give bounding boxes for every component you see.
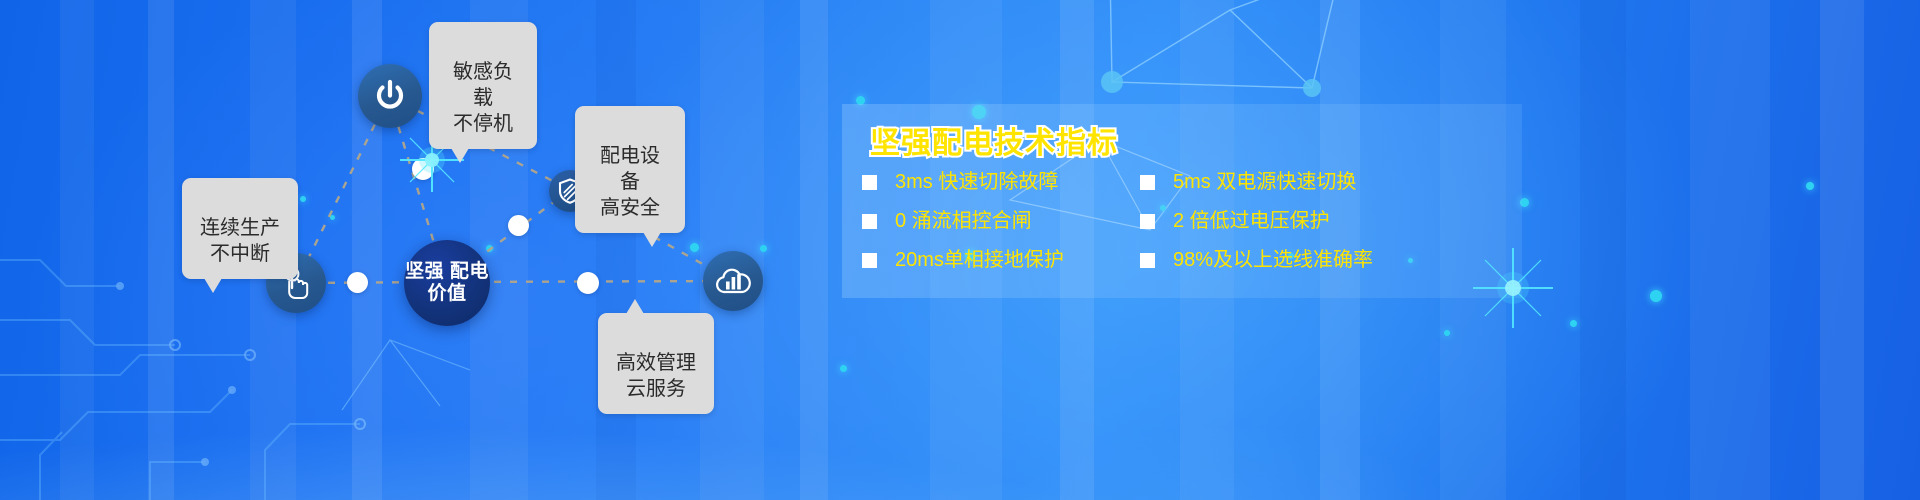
bubble-equipment-safety[interactable]: 配电设备 高安全 [575,106,685,233]
spec-label: 20ms单相接地保护 [895,250,1064,270]
spec-item[interactable]: 98%及以上选线准确率 [1140,250,1502,270]
bubble-text: 敏感负载 不停机 [453,61,513,135]
bubble-text: 高效管理 云服务 [616,352,696,400]
spec-item[interactable]: 5ms 双电源快速切换 [1140,172,1502,192]
node-cloud-chart[interactable] [703,251,763,311]
decor-dot [1806,182,1814,190]
panel-title: 坚强配电技术指标 [870,118,1118,162]
link-dot [577,272,599,294]
decor-dot [1570,320,1577,327]
spec-label: 0 涌流相控合闸 [895,211,1032,231]
bullet-square-icon [862,253,877,268]
spec-item[interactable]: 0 涌流相控合闸 [862,211,1140,231]
spec-item[interactable]: 3ms 快速切除故障 [862,172,1140,192]
spec-item[interactable]: 2 倍低过电压保护 [1140,211,1502,231]
bullet-square-icon [862,175,877,190]
bubble-sensitive-load[interactable]: 敏感负载 不停机 [429,22,537,149]
spec-item[interactable]: 20ms单相接地保护 [862,250,1140,270]
spec-label: 98%及以上选线准确率 [1173,250,1373,270]
bottom-glow-right [880,340,1580,500]
bullet-square-icon [1140,253,1155,268]
bullet-square-icon [1140,214,1155,229]
bullet-square-icon [1140,175,1155,190]
link-dot [412,158,434,180]
link-dot [508,215,529,236]
tech-spec-list: 3ms 快速切除故障 5ms 双电源快速切换 0 涌流相控合闸 2 倍低过电压保… [862,172,1502,270]
bullet-square-icon [862,214,877,229]
node-diagram: 坚强 配电 价值 敏感负载 不停机 配电设备 高安全 连续生产 不中断 高效管理… [0,0,860,500]
decor-dot [1650,290,1662,302]
central-value-label: 坚强 配电 价值 [404,261,490,305]
decor-dot [1444,330,1450,336]
spec-label: 2 倍低过电压保护 [1173,211,1330,231]
bubble-continuous-production[interactable]: 连续生产 不中断 [182,178,298,279]
banner-root: 坚强 配电 价值 敏感负载 不停机 配电设备 高安全 连续生产 不中断 高效管理… [0,0,1920,500]
spec-label: 3ms 快速切除故障 [895,172,1058,192]
central-value-node[interactable]: 坚强 配电 价值 [404,240,490,326]
power-icon [373,79,407,113]
bubble-cloud-service[interactable]: 高效管理 云服务 [598,313,714,414]
bubble-text: 配电设备 高安全 [600,145,660,219]
spec-label: 5ms 双电源快速切换 [1173,172,1356,192]
cloud-chart-icon [714,266,752,296]
link-dot [347,272,368,293]
node-power[interactable] [358,64,422,128]
bubble-text: 连续生产 不中断 [200,217,280,265]
